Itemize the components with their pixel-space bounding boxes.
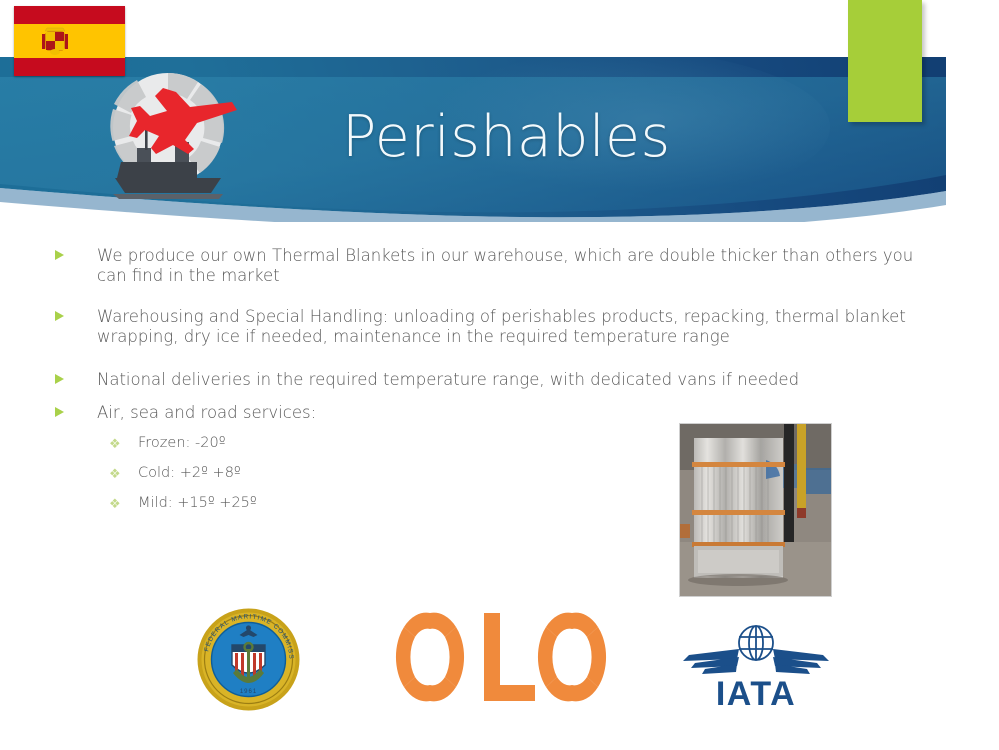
floret-diamond-icon: ❖ [109,466,121,483]
sub-bullet-text: Cold: +2º +8º [138,465,241,481]
spacer [50,285,930,307]
triangle-right-icon [55,250,64,260]
floret-diamond-icon: ❖ [109,436,121,453]
federal-maritime-commission-seal: FEDERAL MARITIME COMMISSION 1961 [196,607,301,712]
spain-flag-icon [14,6,125,76]
svg-text:1961: 1961 [240,689,257,695]
bullet-text: We produce our own Thermal Blankets in o… [97,246,913,285]
bullet-item: Warehousing and Special Handling: unload… [50,307,930,346]
bullet-text: National deliveries in the required temp… [97,370,799,389]
spacer [50,346,930,370]
triangle-right-icon [55,407,64,417]
thermal-blanket-wrapped-pallet-photo [679,423,832,597]
olo-logo [392,611,610,703]
green-accent-rectangle [848,0,922,122]
triangle-right-icon [55,311,64,321]
sub-bullet-text: Frozen: -20º [138,435,226,451]
triangle-right-icon [55,374,64,384]
air-sea-logistics-logo [93,66,243,206]
bullet-item: Air, sea and road services: [50,403,930,423]
bullet-item: We produce our own Thermal Blankets in o… [50,246,930,285]
iata-wordmark: IATA [716,675,796,707]
page-title: Perishables [342,108,671,168]
floret-diamond-icon: ❖ [109,496,121,513]
sub-bullet-text: Mild: +15º +25º [138,495,257,511]
bullet-text: Air, sea and road services: [97,403,316,422]
bullet-text: Warehousing and Special Handling: unload… [97,307,906,346]
iata-logo: IATA [679,621,833,707]
spacer [50,390,930,403]
slide-canvas: Perishables [0,0,999,750]
bullet-item: National deliveries in the required temp… [50,370,930,390]
